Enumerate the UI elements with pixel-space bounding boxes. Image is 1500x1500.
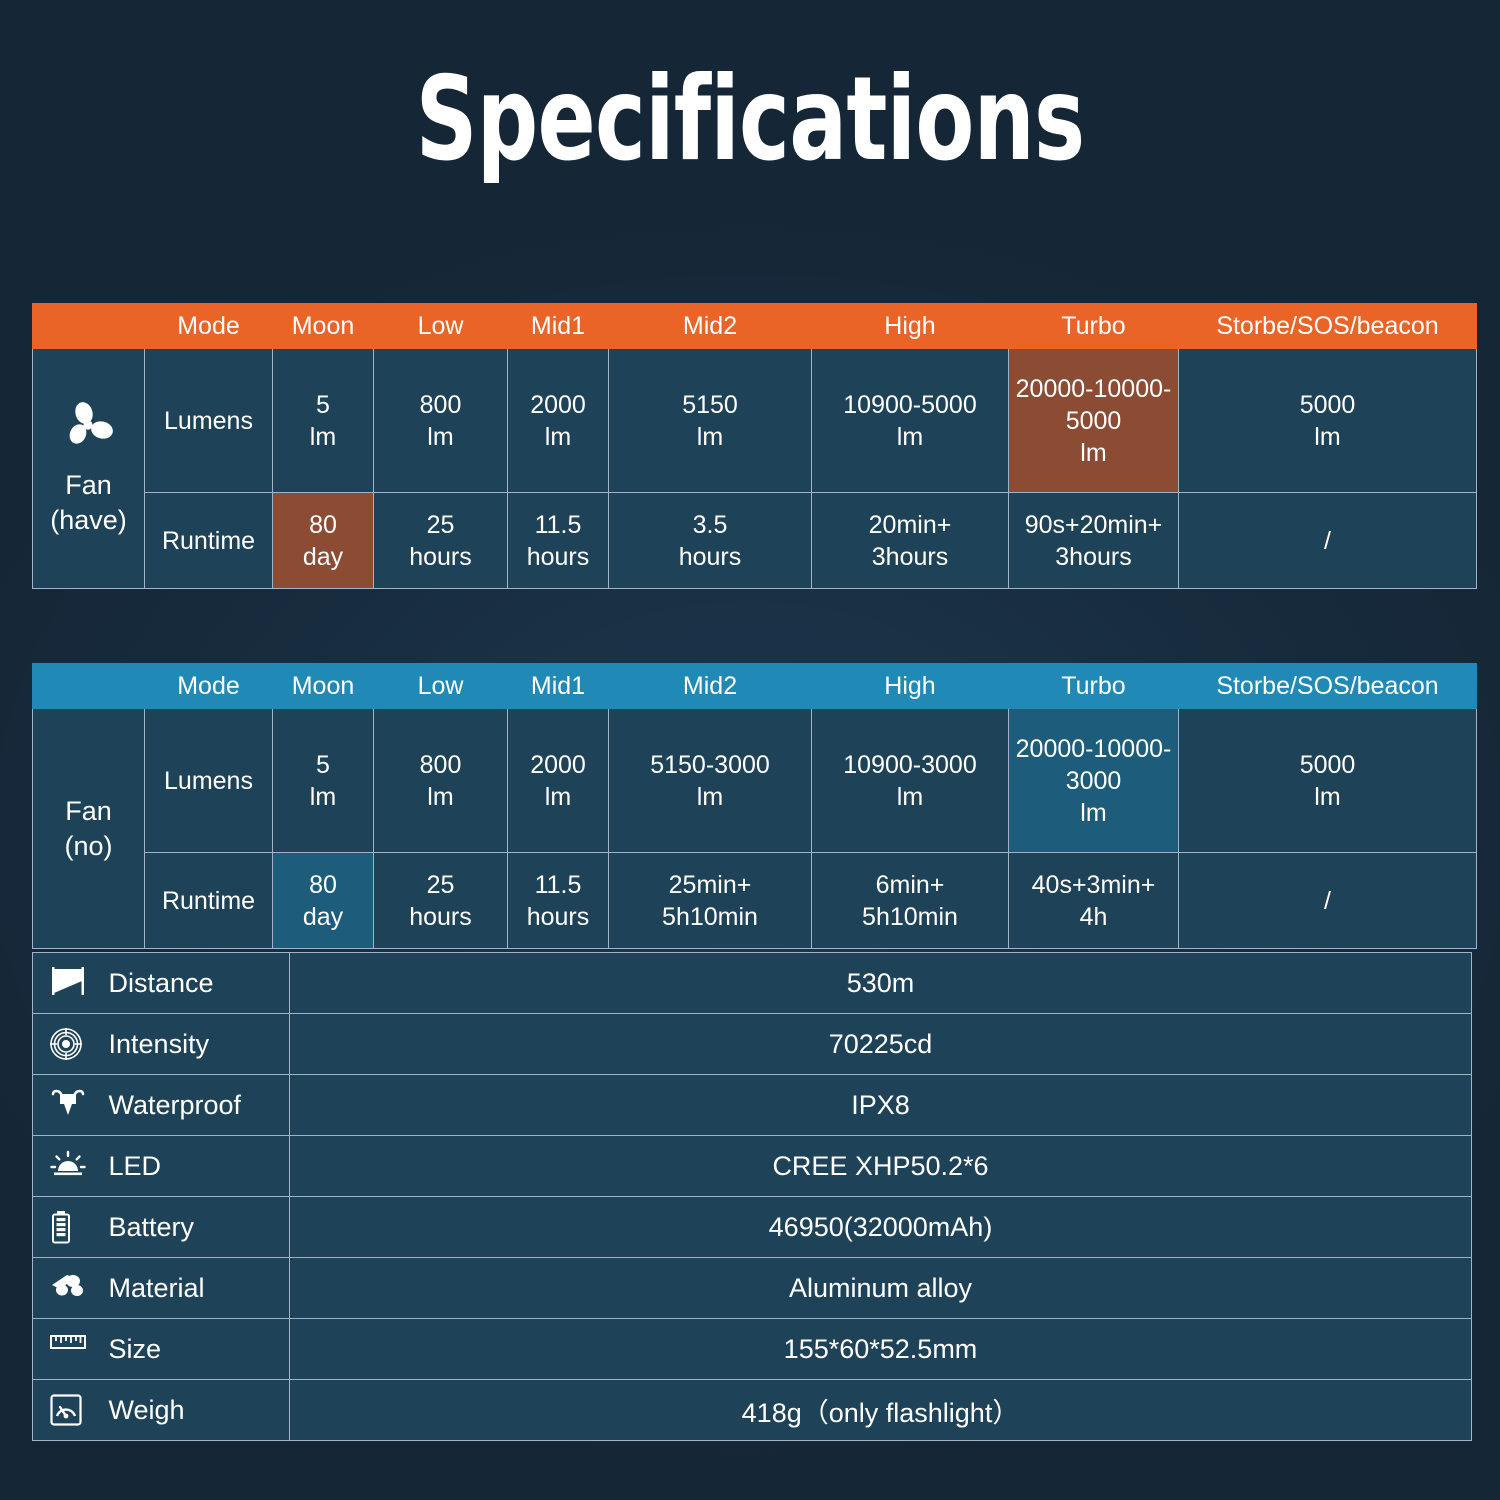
spec-label-text: Weigh [109,1395,185,1426]
cell-runtime-strobe: / [1179,493,1477,589]
spec-label-led: LED [33,1136,290,1197]
cell-lumens-turbo: 20000-10000-3000lm [1009,709,1179,853]
table-row-runtime: Runtime 80day 25hours 11.5hours 25min+5h… [33,853,1477,949]
spec-label-text: Intensity [109,1029,210,1060]
header-turbo: Turbo [1009,304,1179,349]
spec-label-text: Size [109,1334,162,1365]
spec-value-battery: 46950(32000mAh) [290,1197,1472,1258]
cell-runtime-moon: 80day [273,853,374,949]
intensity-icon [49,1027,87,1061]
header-strobe-sos-beacon: Storbe/SOS/beacon [1179,664,1477,709]
cell-runtime-mid2: 25min+5h10min [609,853,812,949]
cell-lumens-moon: 5lm [273,349,374,493]
spec-label-battery: Battery [33,1197,290,1258]
spec-label-size: Size [33,1319,290,1380]
specifications-page: Specifications Mode Moon Low Mid1 Mid2 H… [0,0,1500,1500]
cell-lumens-low: 800lm [374,349,508,493]
header-blank [33,304,145,349]
spec-value-intensity: 70225cd [290,1014,1472,1075]
header-moon: Moon [273,304,374,349]
header-mid2: Mid2 [609,664,812,709]
cell-lumens-strobe: 5000lm [1179,349,1477,493]
cell-runtime-mid1: 11.5hours [508,493,609,589]
spec-label-text: LED [109,1151,162,1182]
spec-row-weight: Weigh 418g（only flashlight） [33,1380,1472,1441]
cell-lumens-high: 10900-5000lm [812,349,1009,493]
cell-runtime-turbo: 90s+20min+3hours [1009,493,1179,589]
led-icon [49,1149,87,1183]
spec-value-led: CREE XHP50.2*6 [290,1136,1472,1197]
cell-lumens-low: 800lm [374,709,508,853]
material-icon [49,1271,87,1305]
fan-group-label-line2: (no) [64,831,112,861]
spec-label-text: Battery [109,1212,195,1243]
battery-icon [49,1210,87,1244]
cell-runtime-low: 25hours [374,493,508,589]
row-label-lumens: Lumens [145,349,273,493]
spec-row-distance: Distance 530m [33,953,1472,1014]
spec-label-intensity: Intensity [33,1014,290,1075]
table-header-row: Mode Moon Low Mid1 Mid2 High Turbo Storb… [33,664,1477,709]
spec-row-material: Material Aluminum alloy [33,1258,1472,1319]
table-row-lumens: Fan (have) Lumens 5lm 800lm 2000lm 5150l… [33,349,1477,493]
size-icon [49,1332,87,1366]
cell-lumens-strobe: 5000lm [1179,709,1477,853]
header-mid1: Mid1 [508,664,609,709]
spec-label-text: Distance [109,968,214,999]
cell-lumens-high: 10900-3000lm [812,709,1009,853]
header-turbo: Turbo [1009,664,1179,709]
table-row-lumens: Fan (no) Lumens 5lm 800lm 2000lm 5150-30… [33,709,1477,853]
cell-runtime-mid2: 3.5hours [609,493,812,589]
cell-runtime-high: 6min+5h10min [812,853,1009,949]
header-low: Low [374,304,508,349]
spec-row-intensity: Intensity 70225cd [33,1014,1472,1075]
cell-runtime-mid1: 11.5hours [508,853,609,949]
spec-value-waterproof: IPX8 [290,1075,1472,1136]
cell-runtime-low: 25hours [374,853,508,949]
spec-value-material: Aluminum alloy [290,1258,1472,1319]
fan-icon [33,400,144,459]
cell-runtime-turbo: 40s+3min+4h [1009,853,1179,949]
spec-row-led: LED CREE XHP50.2*6 [33,1136,1472,1197]
table-row-runtime: Runtime 80day 25hours 11.5hours 3.5hours… [33,493,1477,589]
fan-group-label-line2: (have) [50,505,127,535]
page-title: Specifications [195,62,1305,178]
table-header-row: Mode Moon Low Mid1 Mid2 High Turbo Storb… [33,304,1477,349]
general-spec-table: Distance 530m Intensity 70225cd Waterpro… [32,952,1472,1441]
spec-label-text: Waterproof [109,1090,242,1121]
header-moon: Moon [273,664,374,709]
fan-no-spec-table: Mode Moon Low Mid1 Mid2 High Turbo Storb… [32,663,1477,949]
waterproof-icon [49,1088,87,1122]
cell-lumens-mid2: 5150-3000lm [609,709,812,853]
spec-value-size: 155*60*52.5mm [290,1319,1472,1380]
header-high: High [812,664,1009,709]
header-mode: Mode [145,304,273,349]
fan-group-label-line1: Fan [65,796,112,826]
spec-row-waterproof: Waterproof IPX8 [33,1075,1472,1136]
row-label-runtime: Runtime [145,853,273,949]
spec-value-distance: 530m [290,953,1472,1014]
cell-lumens-mid1: 2000lm [508,709,609,853]
fan-have-spec-table: Mode Moon Low Mid1 Mid2 High Turbo Storb… [32,303,1477,589]
fan-group-cell: Fan (no) [33,709,145,949]
header-mid1: Mid1 [508,304,609,349]
cell-runtime-moon: 80day [273,493,374,589]
spec-value-weight: 418g（only flashlight） [290,1380,1472,1441]
header-mid2: Mid2 [609,304,812,349]
row-label-runtime: Runtime [145,493,273,589]
distance-icon [49,966,87,1000]
weight-icon [49,1393,87,1427]
spec-label-waterproof: Waterproof [33,1075,290,1136]
spec-row-size: Size 155*60*52.5mm [33,1319,1472,1380]
header-strobe-sos-beacon: Storbe/SOS/beacon [1179,304,1477,349]
fan-group-label-line1: Fan [65,470,112,500]
cell-lumens-moon: 5lm [273,709,374,853]
spec-label-weight: Weigh [33,1380,290,1441]
row-label-lumens: Lumens [145,709,273,853]
cell-runtime-strobe: / [1179,853,1477,949]
cell-lumens-mid1: 2000lm [508,349,609,493]
spec-label-distance: Distance [33,953,290,1014]
spec-row-battery: Battery 46950(32000mAh) [33,1197,1472,1258]
fan-group-cell: Fan (have) [33,349,145,589]
spec-label-text: Material [109,1273,205,1304]
cell-runtime-high: 20min+3hours [812,493,1009,589]
cell-lumens-mid2: 5150lm [609,349,812,493]
header-high: High [812,304,1009,349]
header-blank [33,664,145,709]
header-low: Low [374,664,508,709]
cell-lumens-turbo: 20000-10000-5000lm [1009,349,1179,493]
header-mode: Mode [145,664,273,709]
spec-label-material: Material [33,1258,290,1319]
